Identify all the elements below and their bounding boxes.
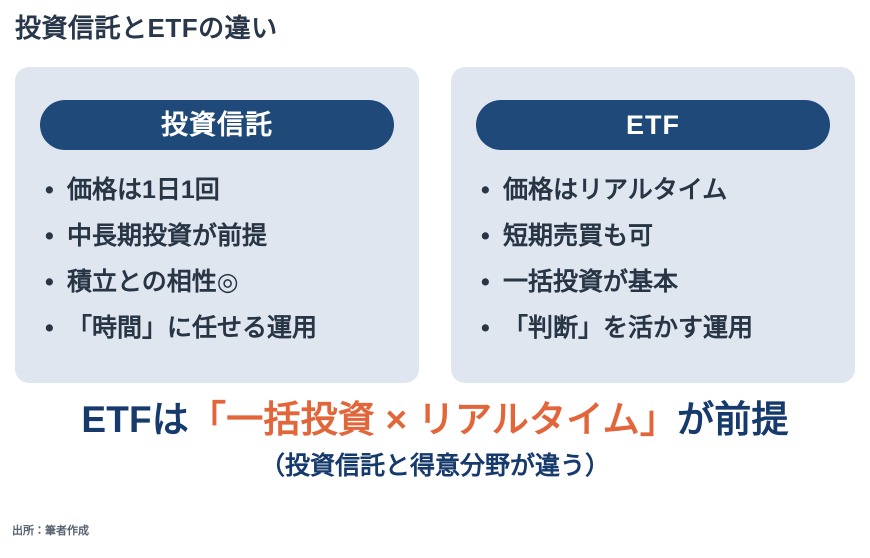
list-item-label: 短期売買も可 — [503, 216, 653, 252]
card-heading-label-left: 投資信託 — [161, 112, 273, 139]
card-toushin-shintaku: 投資信託 • 価格は1日1回 • 中長期投資が前提 • 積立との相性◎ • 「時… — [15, 67, 419, 383]
bullet-icon: • — [481, 316, 503, 341]
bullet-icon: • — [481, 178, 503, 203]
list-item: • 価格は1日1回 — [45, 170, 409, 216]
card-heading-pill-right: ETF — [476, 100, 830, 150]
card-heading-label-right: ETF — [626, 112, 680, 139]
card-bullet-list-right: • 価格はリアルタイム • 短期売買も可 • 一括投資が基本 • 「判断」を活か… — [481, 170, 845, 354]
card-heading-pill-left: 投資信託 — [40, 100, 394, 150]
list-item: • 積立との相性◎ — [45, 262, 409, 308]
list-item-label: 一括投資が基本 — [503, 262, 678, 298]
list-item: • 「判断」を活かす運用 — [481, 308, 845, 354]
list-item: • 「時間」に任せる運用 — [45, 308, 409, 354]
bullet-icon: • — [45, 316, 67, 341]
source-note: 出所：筆者作成 — [12, 522, 89, 538]
conclusion-subtitle: （投資信託と得意分野が違う） — [0, 453, 870, 481]
list-item-label: 中長期投資が前提 — [67, 216, 267, 252]
list-item: • 一括投資が基本 — [481, 262, 845, 308]
conclusion-highlight: 「一括投資 × リアルタイム」 — [189, 399, 677, 440]
list-item-label: 積立との相性◎ — [67, 262, 239, 298]
card-etf: ETF • 価格はリアルタイム • 短期売買も可 • 一括投資が基本 • 「判断… — [451, 67, 855, 383]
list-item: • 中長期投資が前提 — [45, 216, 409, 262]
bullet-icon: • — [45, 270, 67, 295]
conclusion-tail: が前提 — [677, 399, 789, 440]
list-item-label: 価格は1日1回 — [67, 170, 220, 206]
card-bullet-list-left: • 価格は1日1回 • 中長期投資が前提 • 積立との相性◎ • 「時間」に任せ… — [45, 170, 409, 354]
conclusion-block: ETFは「一括投資 × リアルタイム」が前提 （投資信託と得意分野が違う） — [0, 400, 870, 480]
list-item-label: 「時間」に任せる運用 — [67, 308, 317, 344]
page-title: 投資信託とETFの違い — [15, 8, 278, 45]
bullet-icon: • — [481, 270, 503, 295]
slide-canvas: 投資信託とETFの違い 投資信託 • 価格は1日1回 • 中長期投資が前提 • … — [0, 0, 870, 558]
bullet-icon: • — [45, 224, 67, 249]
conclusion-lead: ETFは — [81, 399, 189, 440]
bullet-icon: • — [45, 178, 67, 203]
list-item: • 短期売買も可 — [481, 216, 845, 262]
conclusion-headline: ETFは「一括投資 × リアルタイム」が前提 — [0, 400, 870, 441]
list-item-label: 価格はリアルタイム — [503, 170, 727, 206]
list-item: • 価格はリアルタイム — [481, 170, 845, 216]
list-item-label: 「判断」を活かす運用 — [503, 308, 753, 344]
bullet-icon: • — [481, 224, 503, 249]
comparison-cards: 投資信託 • 価格は1日1回 • 中長期投資が前提 • 積立との相性◎ • 「時… — [15, 67, 855, 383]
